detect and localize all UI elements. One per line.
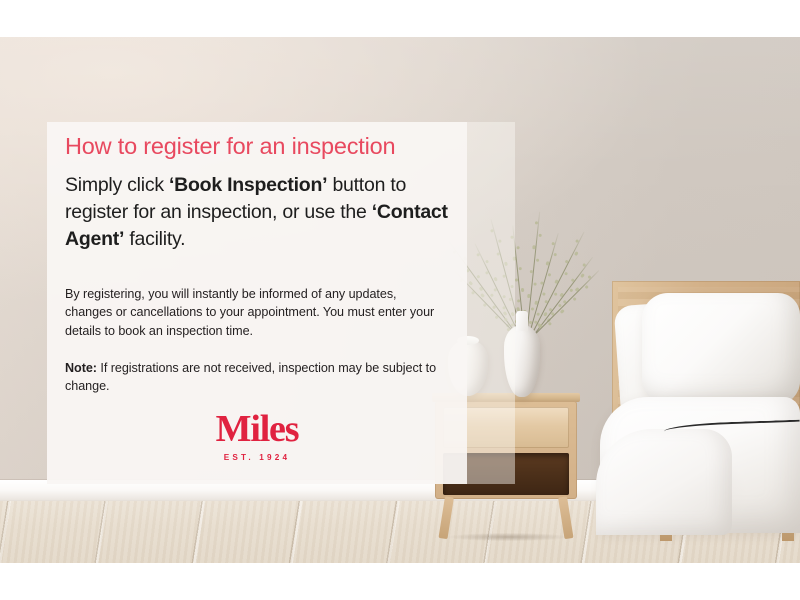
branch-bud: [582, 263, 586, 267]
branch-bud: [539, 234, 543, 238]
duvet-fold: [596, 429, 732, 535]
note-paragraph: Note: If registrations are not received,…: [65, 359, 447, 396]
page-title: How to register for an inspection: [65, 133, 395, 160]
note-text: If registrations are not received, inspe…: [65, 361, 436, 393]
branch-bud: [527, 294, 531, 298]
branch-bud: [573, 297, 578, 302]
nightstand-leg-right: [558, 496, 573, 539]
branch-bud: [517, 299, 521, 303]
branch-bud: [542, 292, 546, 296]
branch-bud: [564, 272, 568, 276]
branch-bud: [551, 242, 555, 246]
branch-bud: [536, 258, 540, 262]
branch-bud: [540, 281, 544, 285]
info-panel-content: How to register for an inspection Simply…: [47, 122, 467, 484]
nightstand-leg-left: [438, 496, 453, 539]
branch-bud: [554, 279, 558, 283]
body-paragraph: By registering, you will instantly be in…: [65, 285, 445, 340]
branch-stem: [532, 270, 599, 337]
branch-bud: [529, 270, 533, 274]
book-inspection-emphasis: ‘Book Inspection’: [169, 174, 327, 196]
branch-bud: [534, 283, 538, 287]
branch-bud: [548, 322, 553, 327]
branch-bud: [531, 307, 535, 311]
brand-logo: Miles EST. 1924: [47, 409, 467, 462]
letterbox-bottom: [0, 563, 800, 600]
branch-bud: [528, 320, 532, 324]
branch-bud: [575, 287, 580, 292]
branch-bud: [562, 299, 567, 304]
branch-bud: [574, 252, 578, 256]
branch-bud: [564, 259, 568, 263]
branch-bud: [534, 221, 538, 225]
branch-bud: [554, 292, 558, 296]
brand-wordmark: Miles: [47, 409, 467, 449]
branch-bud: [570, 278, 574, 282]
brand-established: EST. 1924: [47, 453, 467, 462]
letterbox-top: [0, 0, 800, 37]
branch-bud: [534, 301, 538, 305]
branch-bud: [521, 288, 525, 292]
poster-canvas: How to register for an inspection Simply…: [0, 0, 800, 600]
subhead-part-3: facility.: [124, 228, 185, 250]
info-panel: How to register for an inspection Simply…: [47, 122, 467, 484]
branch-bud: [538, 324, 543, 329]
info-panel-fade-edge: [467, 122, 515, 484]
branch-bud: [532, 246, 536, 250]
branch-bud: [548, 273, 552, 277]
branch-bud: [585, 285, 590, 290]
branch-bud: [544, 300, 548, 304]
branch-bud: [559, 292, 563, 296]
subhead-part-1: Simply click: [65, 174, 169, 196]
subhead-paragraph: Simply click ‘Book Inspection’ button to…: [65, 172, 457, 253]
branch-bud: [550, 311, 555, 316]
branch-bud: [517, 246, 521, 250]
bedroom-scene-photo: How to register for an inspection Simply…: [0, 37, 800, 563]
branch-bud: [560, 309, 565, 314]
branch-stem: [530, 232, 585, 338]
pillow-main: [642, 293, 800, 405]
branch-bud: [553, 253, 557, 257]
branch-bud: [545, 261, 549, 265]
note-label: Note:: [65, 361, 97, 375]
branch-bud: [519, 267, 523, 271]
branch-bud: [569, 288, 573, 292]
branch-bud: [575, 239, 579, 243]
branch-bud: [587, 275, 592, 280]
branch-bud: [581, 273, 585, 277]
